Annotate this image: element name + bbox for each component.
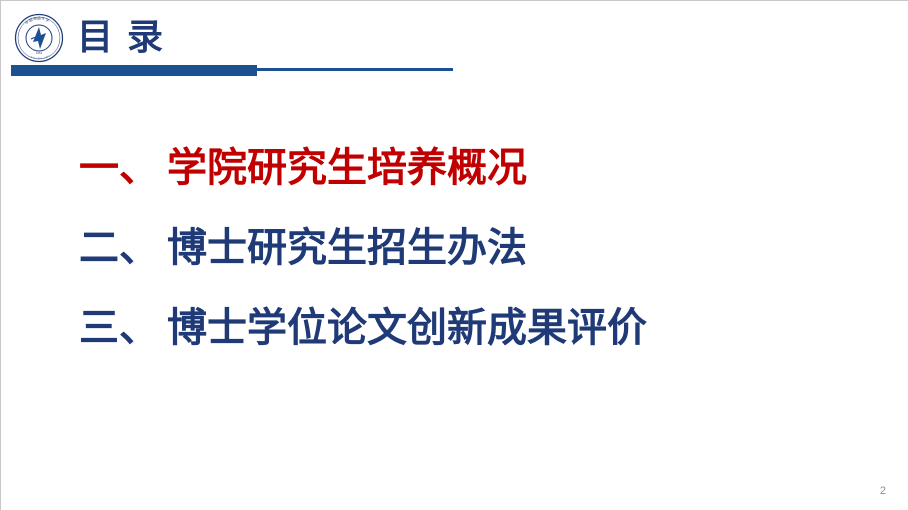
page-number: 2	[880, 484, 886, 498]
toc-item-3[interactable]: 三、博士学位论文创新成果评价	[79, 303, 859, 353]
toc-item-2-label: 博士研究生招生办法	[167, 223, 527, 273]
toc-item-2-number: 二、	[79, 223, 159, 273]
page-title: 目 录	[77, 14, 165, 60]
toc-item-1-label: 学院研究生培养概况	[167, 143, 527, 193]
header-divider-thick	[11, 65, 257, 76]
toc-item-3-number: 三、	[79, 303, 159, 353]
toc-item-3-label: 博士学位论文创新成果评价	[167, 303, 647, 353]
university-seal-logo: 中 国 地 质 大 学 C H I N A U N I 1952	[14, 13, 64, 63]
toc-item-2[interactable]: 二、博士研究生招生办法	[79, 223, 859, 273]
presentation-slide: 中 国 地 质 大 学 C H I N A U N I 1952	[0, 0, 908, 510]
slide-header: 中 国 地 质 大 学 C H I N A U N I 1952	[1, 1, 908, 83]
table-of-contents: 一、学院研究生培养概况 二、博士研究生招生办法 三、博士学位论文创新成果评价	[79, 143, 859, 353]
toc-item-1[interactable]: 一、学院研究生培养概况	[79, 143, 859, 193]
header-divider-thin	[257, 68, 453, 71]
svg-text:1952: 1952	[36, 51, 43, 55]
toc-item-1-number: 一、	[79, 143, 159, 193]
